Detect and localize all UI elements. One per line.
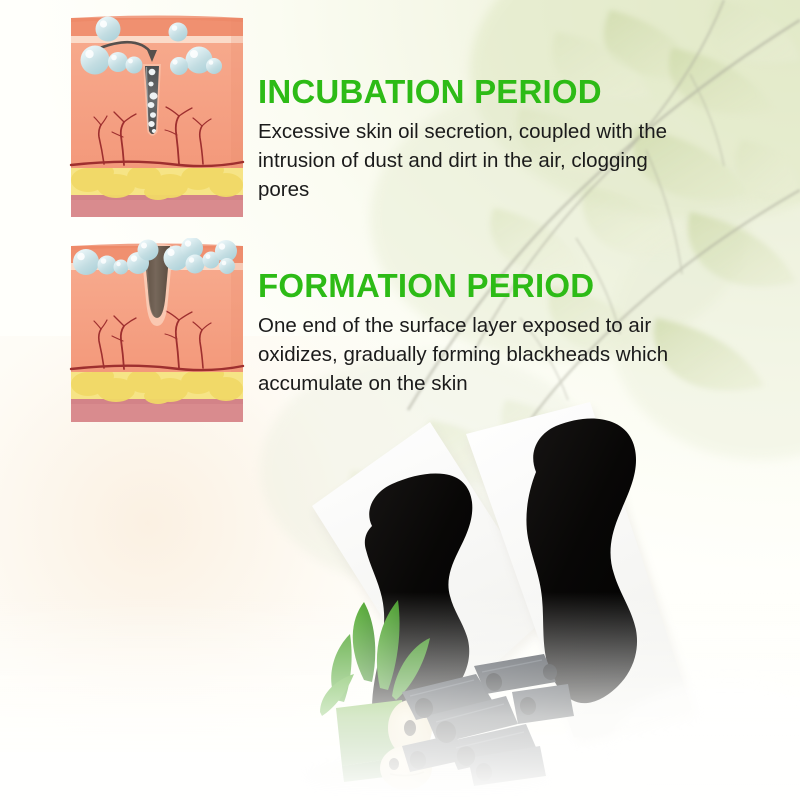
infographic-poster: INCUBATION PERIOD Excessive skin oil sec… (0, 0, 800, 800)
formation-heading: FORMATION PERIOD (258, 268, 728, 304)
formation-body: One end of the surface layer exposed to … (258, 311, 710, 398)
figure-formation-skin-diagram (66, 238, 248, 430)
bottom-fade (0, 592, 800, 800)
incubation-heading: INCUBATION PERIOD (258, 74, 728, 110)
incubation-body: Excessive skin oil secretion, coupled wi… (258, 117, 668, 204)
section-formation: FORMATION PERIOD One end of the surface … (258, 268, 728, 398)
figure-incubation-skin-diagram (66, 4, 248, 226)
section-incubation: INCUBATION PERIOD Excessive skin oil sec… (258, 74, 728, 204)
